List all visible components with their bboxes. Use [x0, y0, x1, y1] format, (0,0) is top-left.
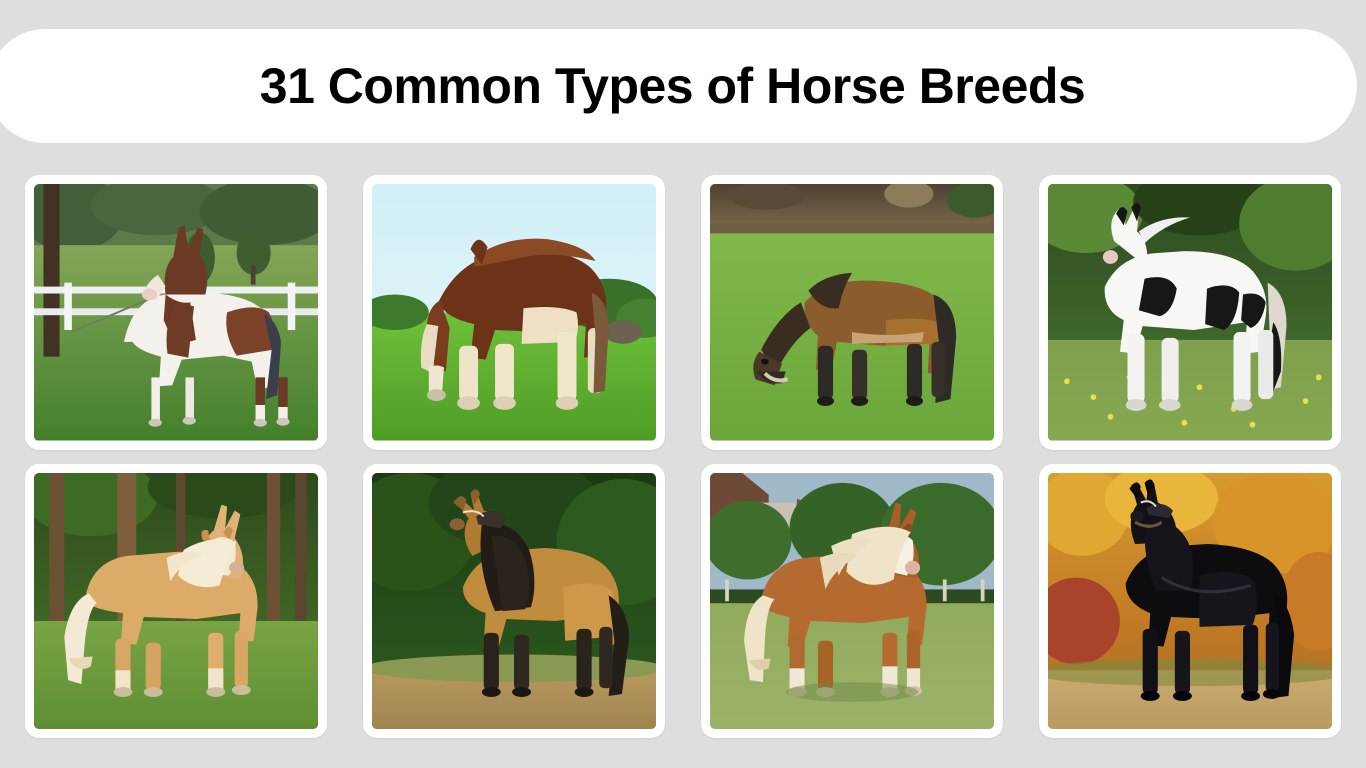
breed-photo-3: Brown Exmoor pony with dark mane grazing… [710, 184, 994, 441]
breed-photo-5: Palomino Haflinger horse with flaxen man… [34, 473, 318, 730]
breed-card[interactable]: Black and white Gypsy Vanner horse with … [1039, 175, 1341, 450]
title-bar: 31 Common Types of Horse Breeds [0, 29, 1357, 143]
breed-card[interactable]: Chestnut Clydesdale draft horse with whi… [363, 175, 665, 450]
breed-photo-4: Black and white Gypsy Vanner horse with … [1048, 184, 1332, 441]
breed-photo-2: Chestnut Clydesdale draft horse with whi… [372, 184, 656, 441]
breed-photo-7: Chestnut Welsh Cob pony with long flaxen… [710, 473, 994, 730]
breed-card-grid: Brown and white pinto Paint horse standi… [25, 175, 1341, 738]
breed-card[interactable]: Chestnut Welsh Cob pony with long flaxen… [701, 464, 1003, 739]
breed-card[interactable]: Buckskin dun stallion with long black ma… [363, 464, 665, 739]
breed-card[interactable]: Brown and white pinto Paint horse standi… [25, 175, 327, 450]
breed-photo-1: Brown and white pinto Paint horse standi… [34, 184, 318, 441]
breed-card[interactable]: Black horse in a bridle standing on sand… [1039, 464, 1341, 739]
breed-photo-6: Buckskin dun stallion with long black ma… [372, 473, 656, 730]
page-title: 31 Common Types of Horse Breeds [260, 61, 1085, 111]
breed-card[interactable]: Palomino Haflinger horse with flaxen man… [25, 464, 327, 739]
breed-card[interactable]: Brown Exmoor pony with dark mane grazing… [701, 175, 1003, 450]
breed-photo-8: Black horse in a bridle standing on sand… [1048, 473, 1332, 730]
